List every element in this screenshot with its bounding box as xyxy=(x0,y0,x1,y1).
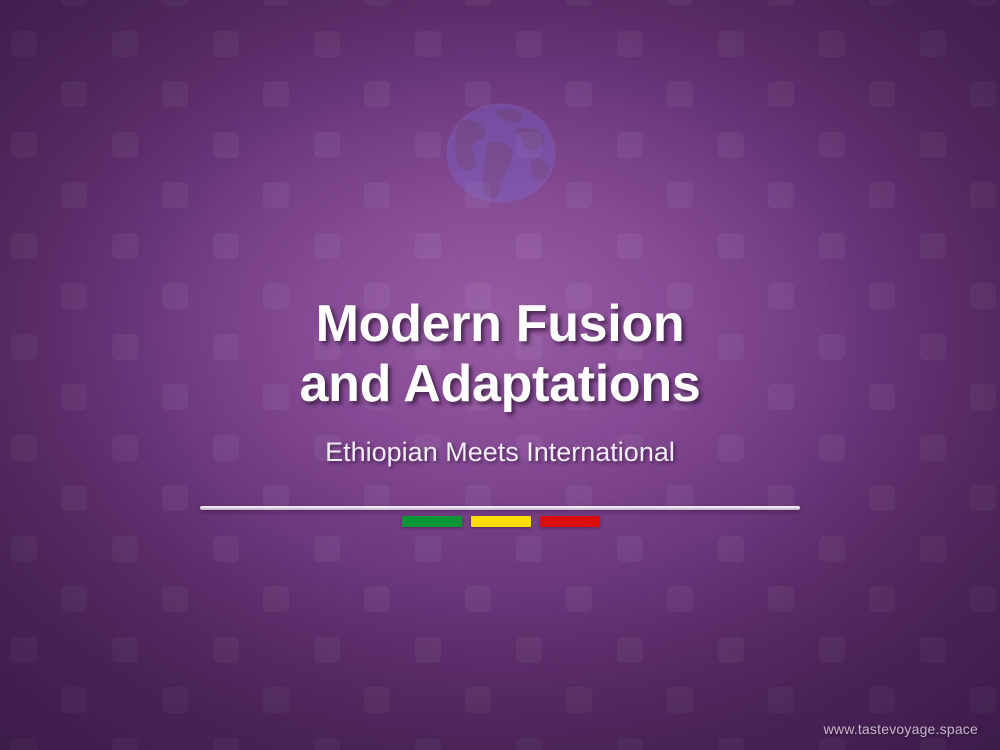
page-title-line-1: Modern Fusion xyxy=(0,294,1000,354)
accent-flag-bar-red xyxy=(540,516,600,527)
title-divider-line xyxy=(200,506,800,510)
accent-flag-bar-yellow xyxy=(471,516,531,527)
accent-flag-bar-green xyxy=(402,516,462,527)
title-block: Modern Fusion and Adaptations Ethiopian … xyxy=(0,294,1000,468)
page-title-line-2: and Adaptations xyxy=(0,354,1000,414)
globe-icon xyxy=(443,101,559,205)
footer-website-url: www.tastevoyage.space xyxy=(824,720,978,738)
page-subtitle: Ethiopian Meets International xyxy=(0,436,1000,468)
presentation-slide: Modern Fusion and Adaptations Ethiopian … xyxy=(0,0,1000,750)
accent-flag-bars xyxy=(402,516,600,527)
page-title: Modern Fusion and Adaptations xyxy=(0,294,1000,414)
